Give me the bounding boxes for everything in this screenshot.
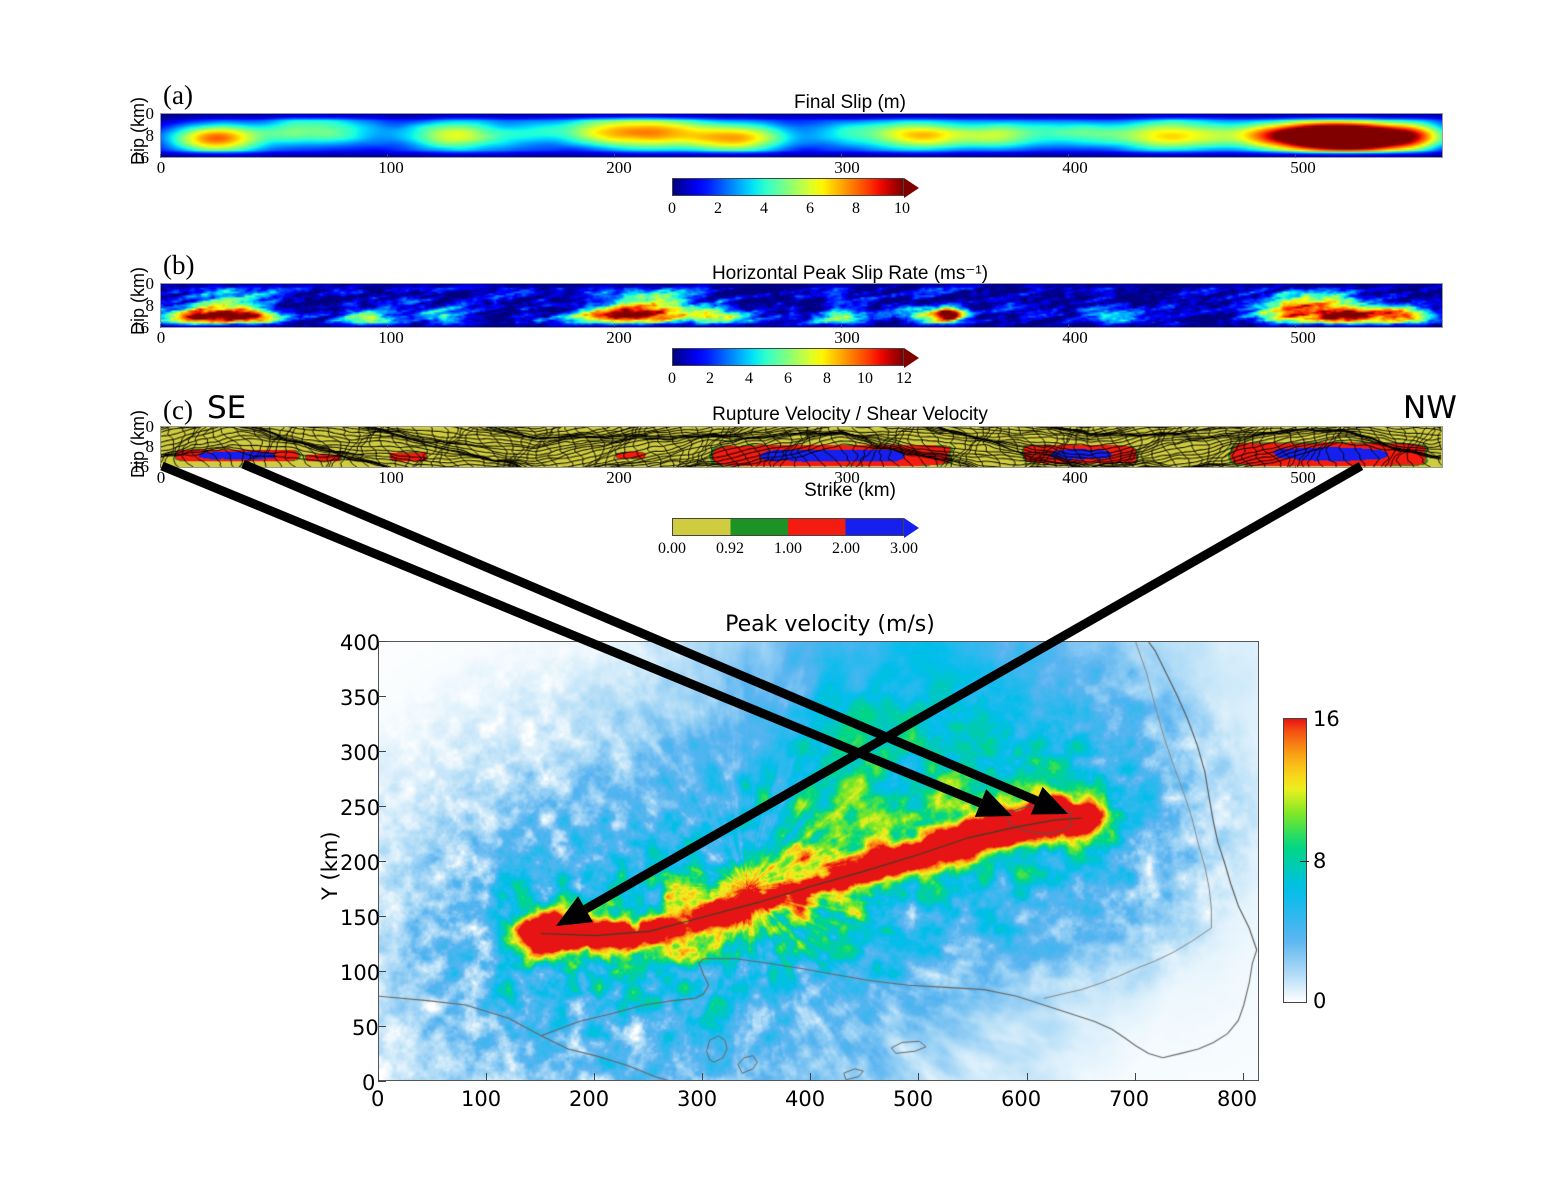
map-ytick-200: 200: [340, 851, 380, 875]
panel-c-title: Rupture Velocity / Shear Velocity: [500, 404, 1200, 426]
map-image: [378, 641, 1259, 1081]
panel-c-image: [160, 426, 1443, 468]
map-xtickmark: [378, 1073, 379, 1081]
map-xtickmark: [1243, 1073, 1244, 1081]
map-xtick-0: 0: [371, 1087, 384, 1111]
map-cbar-tick-0: 0: [1313, 989, 1326, 1013]
panel-a-xtick-500: 500: [1273, 158, 1333, 178]
panel-b-image: [160, 283, 1443, 328]
map-ytick-50: 50: [352, 1016, 379, 1040]
panel-b-ytick-0: 0: [124, 274, 154, 294]
panel-b-xtick-100: 100: [361, 328, 421, 348]
panel-a-xtickmark: [1295, 154, 1296, 158]
map-title: Peak velocity (m/s): [530, 612, 1130, 637]
panel-c-cbar-tick-200: 2.00: [816, 540, 876, 558]
panel-c-cbar-tick-000: 0.00: [642, 540, 702, 558]
panel-b-xtick-200: 200: [589, 328, 649, 348]
panel-c-cbar-tick-100: 1.00: [758, 540, 818, 558]
map-xtick-500: 500: [893, 1087, 933, 1111]
panel-a-xtickmark: [1068, 154, 1069, 158]
map-xtick-300: 300: [677, 1087, 717, 1111]
panel-a-ytick-8: 8: [124, 126, 154, 146]
panel-a-xtickmark: [841, 154, 842, 158]
map-ytick-350: 350: [340, 686, 380, 710]
panel-c-xtickmark: [841, 464, 842, 468]
panel-c-ytick-8: 8: [124, 437, 154, 457]
panel-a-image: [160, 113, 1443, 158]
panel-b-letter: (b): [163, 250, 194, 281]
panel-b-xtickmark: [1068, 324, 1069, 328]
panel-a-xtick-200: 200: [589, 158, 649, 178]
panel-c-xtick-500: 500: [1273, 468, 1333, 488]
panel-a-xtickmark: [160, 154, 161, 158]
map-ytick-400: 400: [340, 631, 380, 655]
panel-c-ytick-0: 0: [124, 417, 154, 437]
map-xtick-200: 200: [569, 1087, 609, 1111]
map-ytickmark: [378, 916, 386, 917]
map-ytickmark: [378, 1026, 386, 1027]
panel-b-xtick-400: 400: [1045, 328, 1105, 348]
panel-a-letter: (a): [163, 80, 193, 111]
panel-b-xtickmark: [841, 324, 842, 328]
panel-c-strike-axis-label: Strike (km): [500, 480, 1200, 502]
map-cbar-tickmark: [1300, 861, 1309, 862]
panel-c-cbar-tick-092: 0.92: [700, 540, 760, 558]
panel-a-title: Final Slip (m): [500, 92, 1200, 114]
map-cbar-tick-8: 8: [1313, 849, 1326, 873]
map-xtickmark: [1027, 1073, 1028, 1081]
panel-b-xtickmark: [160, 324, 161, 328]
panel-a-xtickmark: [387, 154, 388, 158]
map-xtick-100: 100: [461, 1087, 501, 1111]
map-xtickmark: [918, 1073, 919, 1081]
panel-b-xtickmark: [1295, 324, 1296, 328]
map-ytickmark: [378, 971, 386, 972]
map-xtickmark: [810, 1073, 811, 1081]
panel-c-xtickmark: [160, 464, 161, 468]
panel-c-xtickmark: [614, 464, 615, 468]
map-xtickmark: [702, 1073, 703, 1081]
map-xtickmark: [486, 1073, 487, 1081]
panel-b-xtick-300: 300: [817, 328, 877, 348]
map-xtick-600: 600: [1001, 1087, 1041, 1111]
panel-c-xtickmark: [1295, 464, 1296, 468]
panel-c-xtick-100: 100: [361, 468, 421, 488]
compass-label-se: SE: [207, 390, 246, 426]
panel-b-xtick-500: 500: [1273, 328, 1333, 348]
panel-a-cbar-tick-10: 10: [872, 200, 932, 218]
panel-b-xtick-0: 0: [131, 328, 191, 348]
map-ytick-300: 300: [340, 741, 380, 765]
map-ytickmark: [378, 861, 386, 862]
map-ytick-100: 100: [340, 961, 380, 985]
compass-label-nw: NW: [1403, 390, 1457, 426]
panel-b-cbar-tick-12: 12: [874, 370, 934, 388]
panel-b-xtickmark: [387, 324, 388, 328]
panel-a-xtick-400: 400: [1045, 158, 1105, 178]
panel-b-title: Horizontal Peak Slip Rate (ms⁻¹): [500, 262, 1200, 285]
map-y-axis-label: Y (km): [318, 831, 342, 900]
panel-c-letter: (c): [163, 395, 193, 426]
panel-b-xtickmark: [614, 324, 615, 328]
panel-c-xtickmark: [1068, 464, 1069, 468]
map-xtickmark: [1135, 1073, 1136, 1081]
map-xtick-800: 800: [1217, 1087, 1257, 1111]
map-ytickmark: [378, 641, 386, 642]
panel-c-xtick-0: 0: [131, 468, 191, 488]
map-xtick-400: 400: [785, 1087, 825, 1111]
panel-c-cbar-tick-300: 3.00: [874, 540, 934, 558]
map-ytickmark: [378, 1081, 386, 1082]
map-xtick-700: 700: [1109, 1087, 1149, 1111]
panel-c-xtickmark: [387, 464, 388, 468]
panel-a-xtick-100: 100: [361, 158, 421, 178]
panel-a-ytick-0: 0: [124, 104, 154, 124]
panel-a-xtick-0: 0: [131, 158, 191, 178]
panel-a-xtick-300: 300: [817, 158, 877, 178]
map-ytick-250: 250: [340, 796, 380, 820]
map-cbar-tick-16: 16: [1313, 707, 1340, 731]
map-xtickmark: [594, 1073, 595, 1081]
map-ytick-150: 150: [340, 906, 380, 930]
map-ytickmark: [378, 806, 386, 807]
panel-a-xtickmark: [614, 154, 615, 158]
map-ytickmark: [378, 696, 386, 697]
map-ytickmark: [378, 751, 386, 752]
panel-b-ytick-8: 8: [124, 296, 154, 316]
